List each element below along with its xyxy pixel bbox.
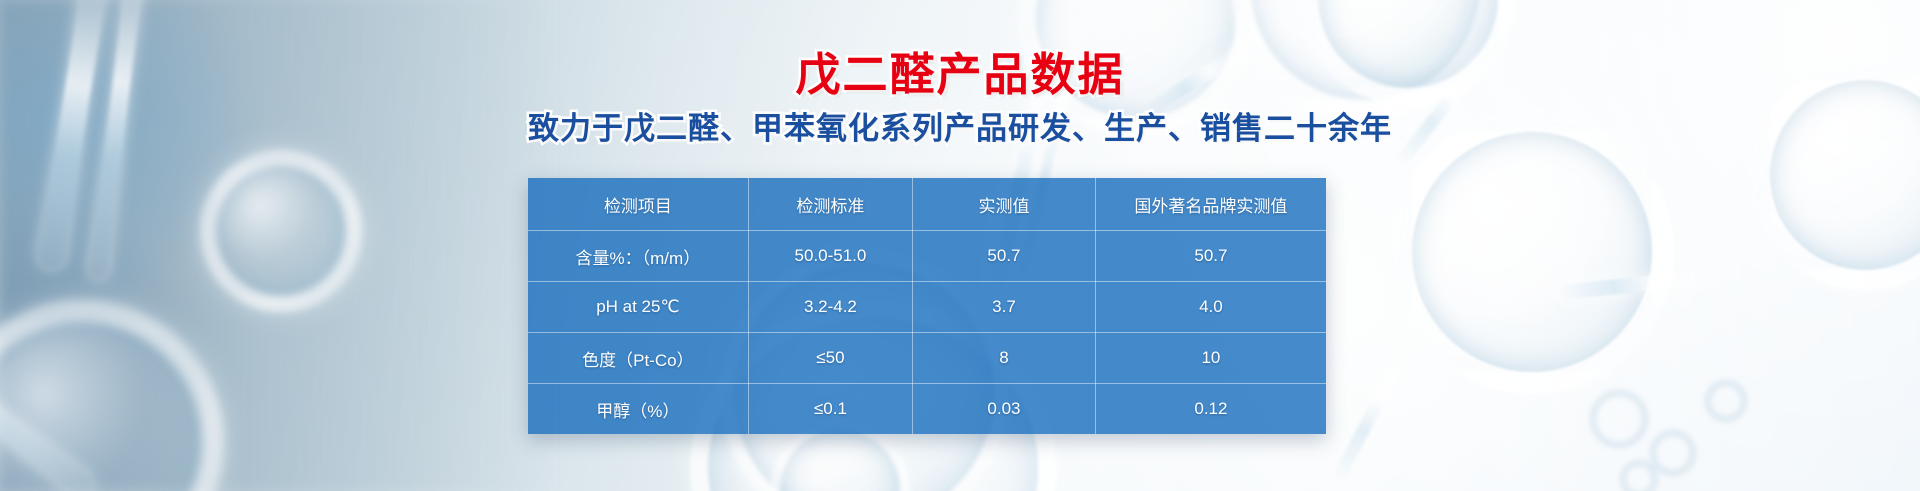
table-header-row: 检测项目 检测标准 实测值 国外著名品牌实测值 — [528, 178, 1326, 231]
table-row: 甲醇（%） ≤0.1 0.03 0.12 — [528, 384, 1326, 435]
page-subtitle: 致力于戊二醛、甲苯氧化系列产品研发、生产、销售二十余年 — [0, 113, 1920, 144]
cell-measured: 8 — [913, 333, 1096, 384]
table-row: 含量%：（m/m） 50.0-51.0 50.7 50.7 — [528, 231, 1326, 282]
column-header-item: 检测项目 — [528, 178, 748, 231]
cell-standard: ≤50 — [748, 333, 912, 384]
cell-standard: 50.0-51.0 — [748, 231, 912, 282]
page-title: 戊二醛产品数据 — [0, 52, 1920, 97]
banner-heading-block: 戊二醛产品数据 致力于戊二醛、甲苯氧化系列产品研发、生产、销售二十余年 — [0, 52, 1920, 144]
cell-standard: 3.2-4.2 — [748, 282, 912, 333]
cell-item: 含量%：（m/m） — [528, 231, 748, 282]
column-header-standard: 检测标准 — [748, 178, 912, 231]
cell-item: pH at 25℃ — [528, 282, 748, 333]
cell-measured: 0.03 — [913, 384, 1096, 435]
table-body: 含量%：（m/m） 50.0-51.0 50.7 50.7 pH at 25℃ … — [528, 231, 1326, 435]
cell-standard: ≤0.1 — [748, 384, 912, 435]
product-data-banner: 戊二醛产品数据 致力于戊二醛、甲苯氧化系列产品研发、生产、销售二十余年 检测项目… — [0, 0, 1920, 491]
cell-measured: 50.7 — [913, 231, 1096, 282]
cell-item: 甲醇（%） — [528, 384, 748, 435]
column-header-measured: 实测值 — [913, 178, 1096, 231]
table-head: 检测项目 检测标准 实测值 国外著名品牌实测值 — [528, 178, 1326, 231]
cell-item: 色度（Pt-Co） — [528, 333, 748, 384]
banner-content: 戊二醛产品数据 致力于戊二醛、甲苯氧化系列产品研发、生产、销售二十余年 检测项目… — [0, 0, 1920, 491]
table-row: 色度（Pt-Co） ≤50 8 10 — [528, 333, 1326, 384]
column-header-foreign-brand: 国外著名品牌实测值 — [1095, 178, 1326, 231]
product-spec-table: 检测项目 检测标准 实测值 国外著名品牌实测值 含量%：（m/m） 50.0-5… — [528, 178, 1326, 434]
cell-foreign-brand: 4.0 — [1095, 282, 1326, 333]
table-row: pH at 25℃ 3.2-4.2 3.7 4.0 — [528, 282, 1326, 333]
cell-foreign-brand: 0.12 — [1095, 384, 1326, 435]
cell-measured: 3.7 — [913, 282, 1096, 333]
product-spec-table-container: 检测项目 检测标准 实测值 国外著名品牌实测值 含量%：（m/m） 50.0-5… — [528, 178, 1326, 434]
cell-foreign-brand: 10 — [1095, 333, 1326, 384]
cell-foreign-brand: 50.7 — [1095, 231, 1326, 282]
